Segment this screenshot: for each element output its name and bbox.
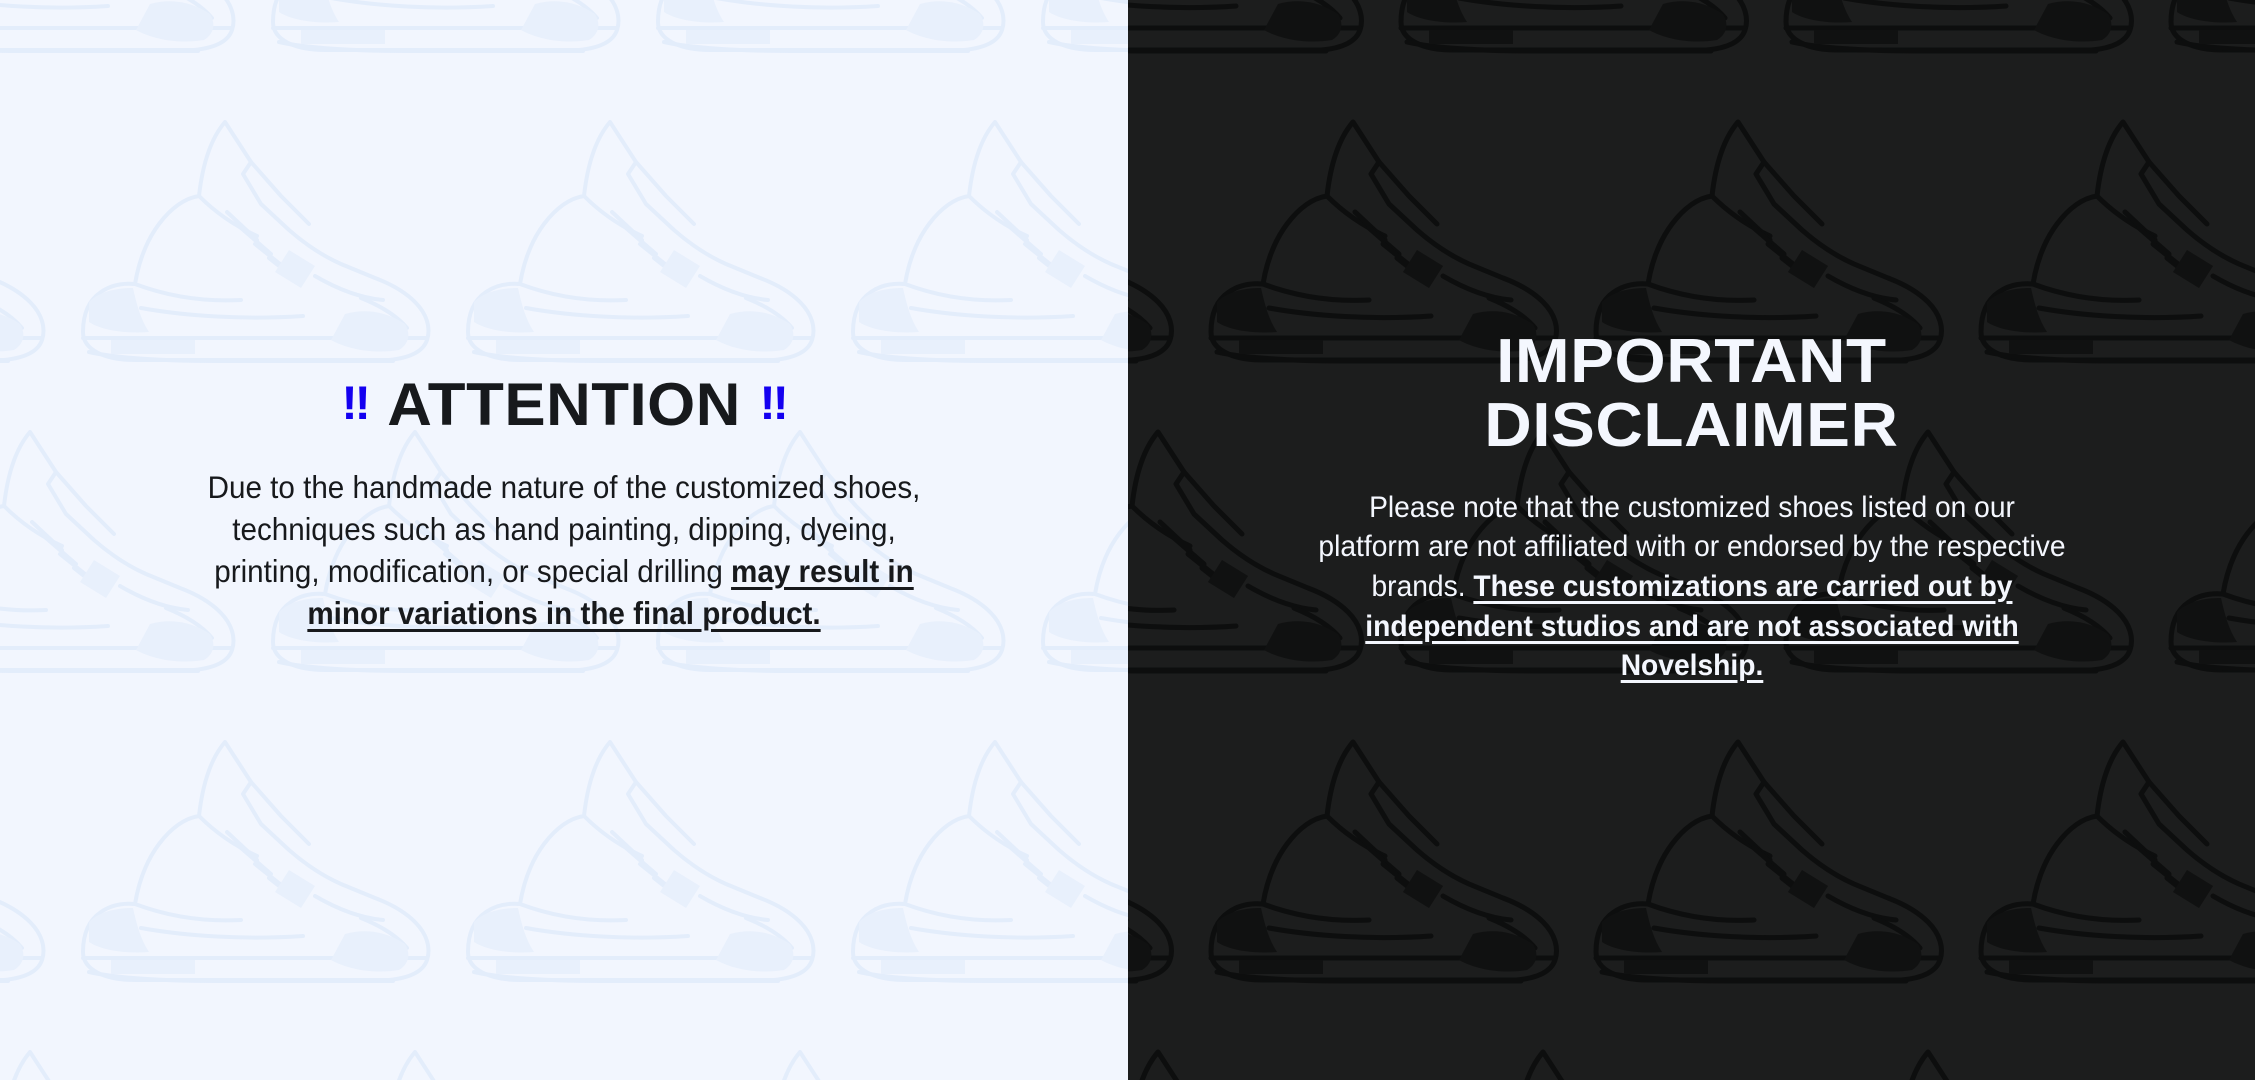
attention-heading: ‼ ATTENTION ‼	[341, 375, 786, 435]
disclaimer-heading: IMPORTANT DISCLAIMER	[1484, 330, 1898, 458]
disclaimer-heading-line-2: DISCLAIMER	[1484, 394, 1898, 458]
attention-panel: ‼ ATTENTION ‼ Due to the handmade nature…	[0, 0, 1128, 1080]
double-exclamation-icon-left: ‼	[341, 379, 368, 426]
disclaimer-body: Please note that the customized shoes li…	[1316, 488, 2068, 686]
disclaimer-heading-line-1: IMPORTANT	[1484, 330, 1898, 394]
disclaimer-panel: IMPORTANT DISCLAIMER Please note that th…	[1128, 0, 2255, 1080]
attention-heading-text: ATTENTION	[387, 375, 741, 435]
disclaimer-content: IMPORTANT DISCLAIMER Please note that th…	[1128, 0, 2255, 686]
attention-body: Due to the handmade nature of the custom…	[207, 467, 921, 635]
split-banner: ‼ ATTENTION ‼ Due to the handmade nature…	[0, 0, 2255, 1080]
attention-content: ‼ ATTENTION ‼ Due to the handmade nature…	[0, 0, 1128, 635]
double-exclamation-icon-right: ‼	[759, 379, 786, 426]
